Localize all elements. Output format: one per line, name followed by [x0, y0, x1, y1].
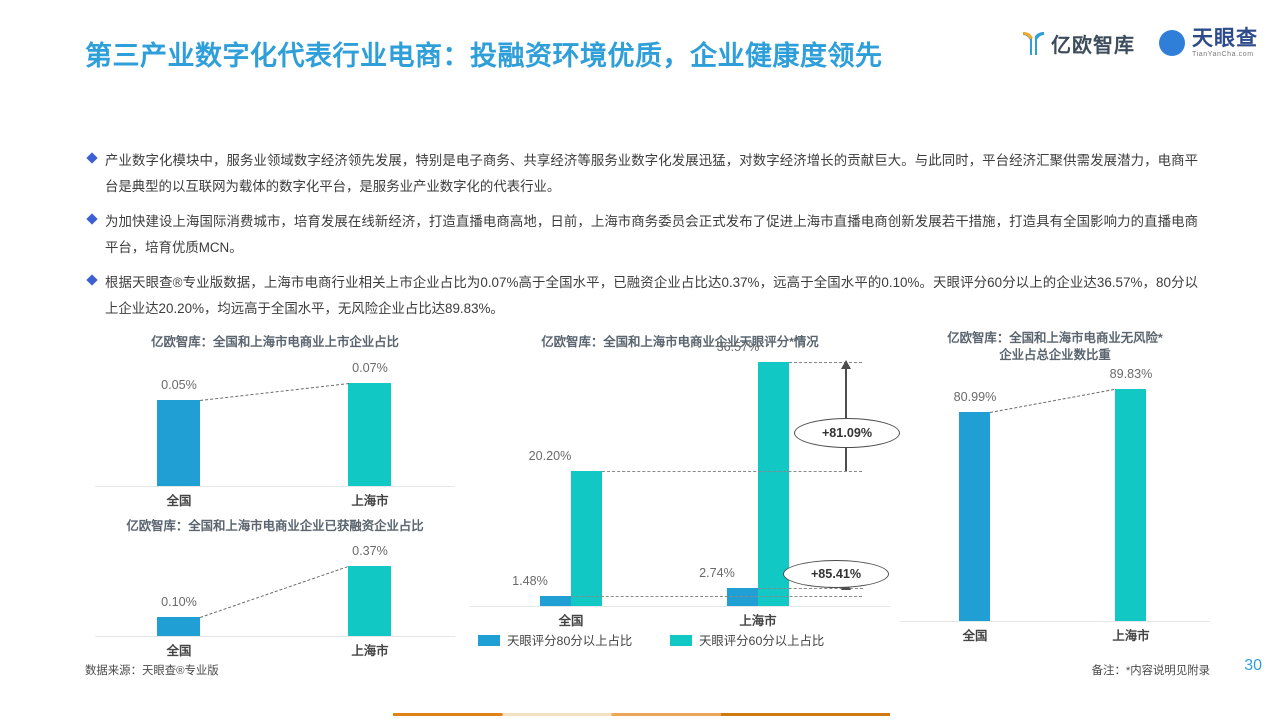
value-label-shanghai: 0.37%	[330, 544, 410, 558]
value-label-shanghai: 0.07%	[330, 361, 410, 375]
category-label-shanghai: 上海市	[330, 491, 410, 509]
reference-line-60-high	[789, 362, 862, 363]
category-label-quanguo: 全国	[139, 641, 219, 659]
chart-axis	[95, 636, 455, 637]
bar-quanguo	[157, 617, 200, 636]
legend-label-score60: 天眼评分60分以上占比	[699, 631, 824, 649]
chart-axis	[95, 486, 455, 487]
tianyancha-logo-textblock: 天眼查 TianYanCha.com	[1192, 28, 1258, 58]
chart-title: 亿欧智库：全国和上海市电商业企业已获融资企业占比	[95, 518, 455, 535]
bottom-accent-bar	[393, 713, 890, 716]
chart-no-risk-share: 亿欧智库：全国和上海市电商业无风险* 企业占总企业数比重 80.99% 89.8…	[900, 330, 1210, 650]
category-label-quanguo: 全国	[935, 626, 1015, 644]
tianyancha-logo-subtext: TianYanCha.com	[1192, 51, 1258, 58]
trend-connector-line	[200, 383, 349, 401]
bar-quanguo-score60	[571, 471, 602, 606]
value-label-shanghai-score60: 36.57%	[698, 340, 778, 354]
value-label-shanghai: 89.83%	[1091, 367, 1171, 381]
tianyancha-logo-icon	[1157, 28, 1187, 58]
chart-title: 亿欧智库：全国和上海市电商业企业天眼评分*情况	[470, 334, 890, 351]
growth-arrow-head-60	[841, 360, 851, 369]
bullet-text: 产业数字化模块中，服务业领域数字经济领先发展，特别是电子商务、共享经济等服务业数…	[105, 148, 1198, 200]
tianyancha-logo: 天眼查 TianYanCha.com	[1157, 28, 1258, 58]
value-label-quanguo-score80: 1.48%	[495, 574, 565, 588]
value-label-quanguo-score60: 20.20%	[510, 449, 590, 463]
legend-swatch-blue	[478, 635, 500, 646]
yiou-logo-text: 亿欧智库	[1051, 29, 1135, 58]
bullet-list: 产业数字化模块中，服务业领域数字经济领先发展，特别是电子商务、共享经济等服务业数…	[88, 148, 1198, 331]
value-label-shanghai-score80: 2.74%	[682, 566, 752, 580]
bullet-item: 根据天眼查®专业版数据，上海市电商行业相关上市企业占比为0.07%高于全国水平，…	[88, 270, 1198, 322]
bar-quanguo	[157, 400, 200, 486]
page-title: 第三产业数字化代表行业电商：投融资环境优质，企业健康度领先	[85, 38, 985, 74]
tianyancha-logo-text: 天眼查	[1192, 28, 1258, 49]
chart-title-line2: 企业占总企业数比重	[900, 347, 1210, 364]
value-label-quanguo: 0.10%	[139, 595, 219, 609]
chart-financed-share: 亿欧智库：全国和上海市电商业企业已获融资企业占比 0.10% 0.37% 全国 …	[95, 518, 455, 663]
bar-shanghai	[1115, 389, 1146, 621]
diamond-bullet-icon	[86, 213, 97, 224]
chart-tianyan-score: 亿欧智库：全国和上海市电商业企业天眼评分*情况 +81.09% +85.41% …	[470, 334, 890, 644]
chart-title-line1: 亿欧智库：全国和上海市电商业无风险*	[900, 330, 1210, 347]
chart-axis	[900, 621, 1210, 622]
bullet-item: 产业数字化模块中，服务业领域数字经济领先发展，特别是电子商务、共享经济等服务业数…	[88, 148, 1198, 200]
chart-title: 亿欧智库：全国和上海市电商业上市企业占比	[95, 334, 455, 351]
bar-shanghai	[348, 566, 391, 636]
category-label-shanghai: 上海市	[718, 611, 798, 629]
chart-listed-share: 亿欧智库：全国和上海市电商业上市企业占比 0.05% 0.07% 全国 上海市	[95, 334, 455, 509]
category-label-shanghai: 上海市	[330, 641, 410, 659]
legend-label-score80: 天眼评分80分以上占比	[507, 631, 632, 649]
reference-line-80-low	[571, 596, 862, 597]
yiou-logo: 亿欧智库	[1020, 28, 1135, 58]
yiou-logo-icon	[1020, 28, 1046, 58]
page-number: 30	[1244, 657, 1262, 675]
category-label-shanghai: 上海市	[1091, 626, 1171, 644]
chart-axis	[470, 606, 890, 607]
bar-shanghai-score80	[727, 588, 758, 606]
legend-item-score80: 天眼评分80分以上占比	[478, 631, 632, 649]
logo-group: 亿欧智库 天眼查 TianYanCha.com	[1020, 28, 1258, 58]
value-label-quanguo: 80.99%	[935, 390, 1015, 404]
callout-growth-60: +81.09%	[794, 418, 900, 448]
bullet-text: 为加快建设上海国际消费城市，培育发展在线新经济，打造直播电商高地，日前，上海市商…	[105, 209, 1198, 261]
callout-growth-80: +85.41%	[783, 560, 889, 588]
bullet-item: 为加快建设上海国际消费城市，培育发展在线新经济，打造直播电商高地，日前，上海市商…	[88, 209, 1198, 261]
diamond-bullet-icon	[86, 152, 97, 163]
trend-connector-line	[200, 566, 348, 618]
footnote-text: 备注：*内容说明见附录	[1092, 662, 1210, 678]
slide: 亿欧智库 天眼查 TianYanCha.com 第三产业数字化代表行业电商：投融…	[0, 0, 1280, 720]
legend-swatch-teal	[670, 635, 692, 646]
category-label-quanguo: 全国	[139, 491, 219, 509]
reference-line-60-low	[602, 471, 862, 472]
bullet-text: 根据天眼查®专业版数据，上海市电商行业相关上市企业占比为0.07%高于全国水平，…	[105, 270, 1198, 322]
data-source-text: 数据来源：天眼查®专业版	[85, 662, 219, 678]
bar-quanguo-score80	[540, 596, 571, 606]
bar-shanghai	[348, 383, 391, 486]
legend-item-score60: 天眼评分60分以上占比	[670, 631, 824, 649]
category-label-quanguo: 全国	[531, 611, 611, 629]
bar-quanguo	[959, 412, 990, 621]
diamond-bullet-icon	[86, 274, 97, 285]
value-label-quanguo: 0.05%	[139, 378, 219, 392]
